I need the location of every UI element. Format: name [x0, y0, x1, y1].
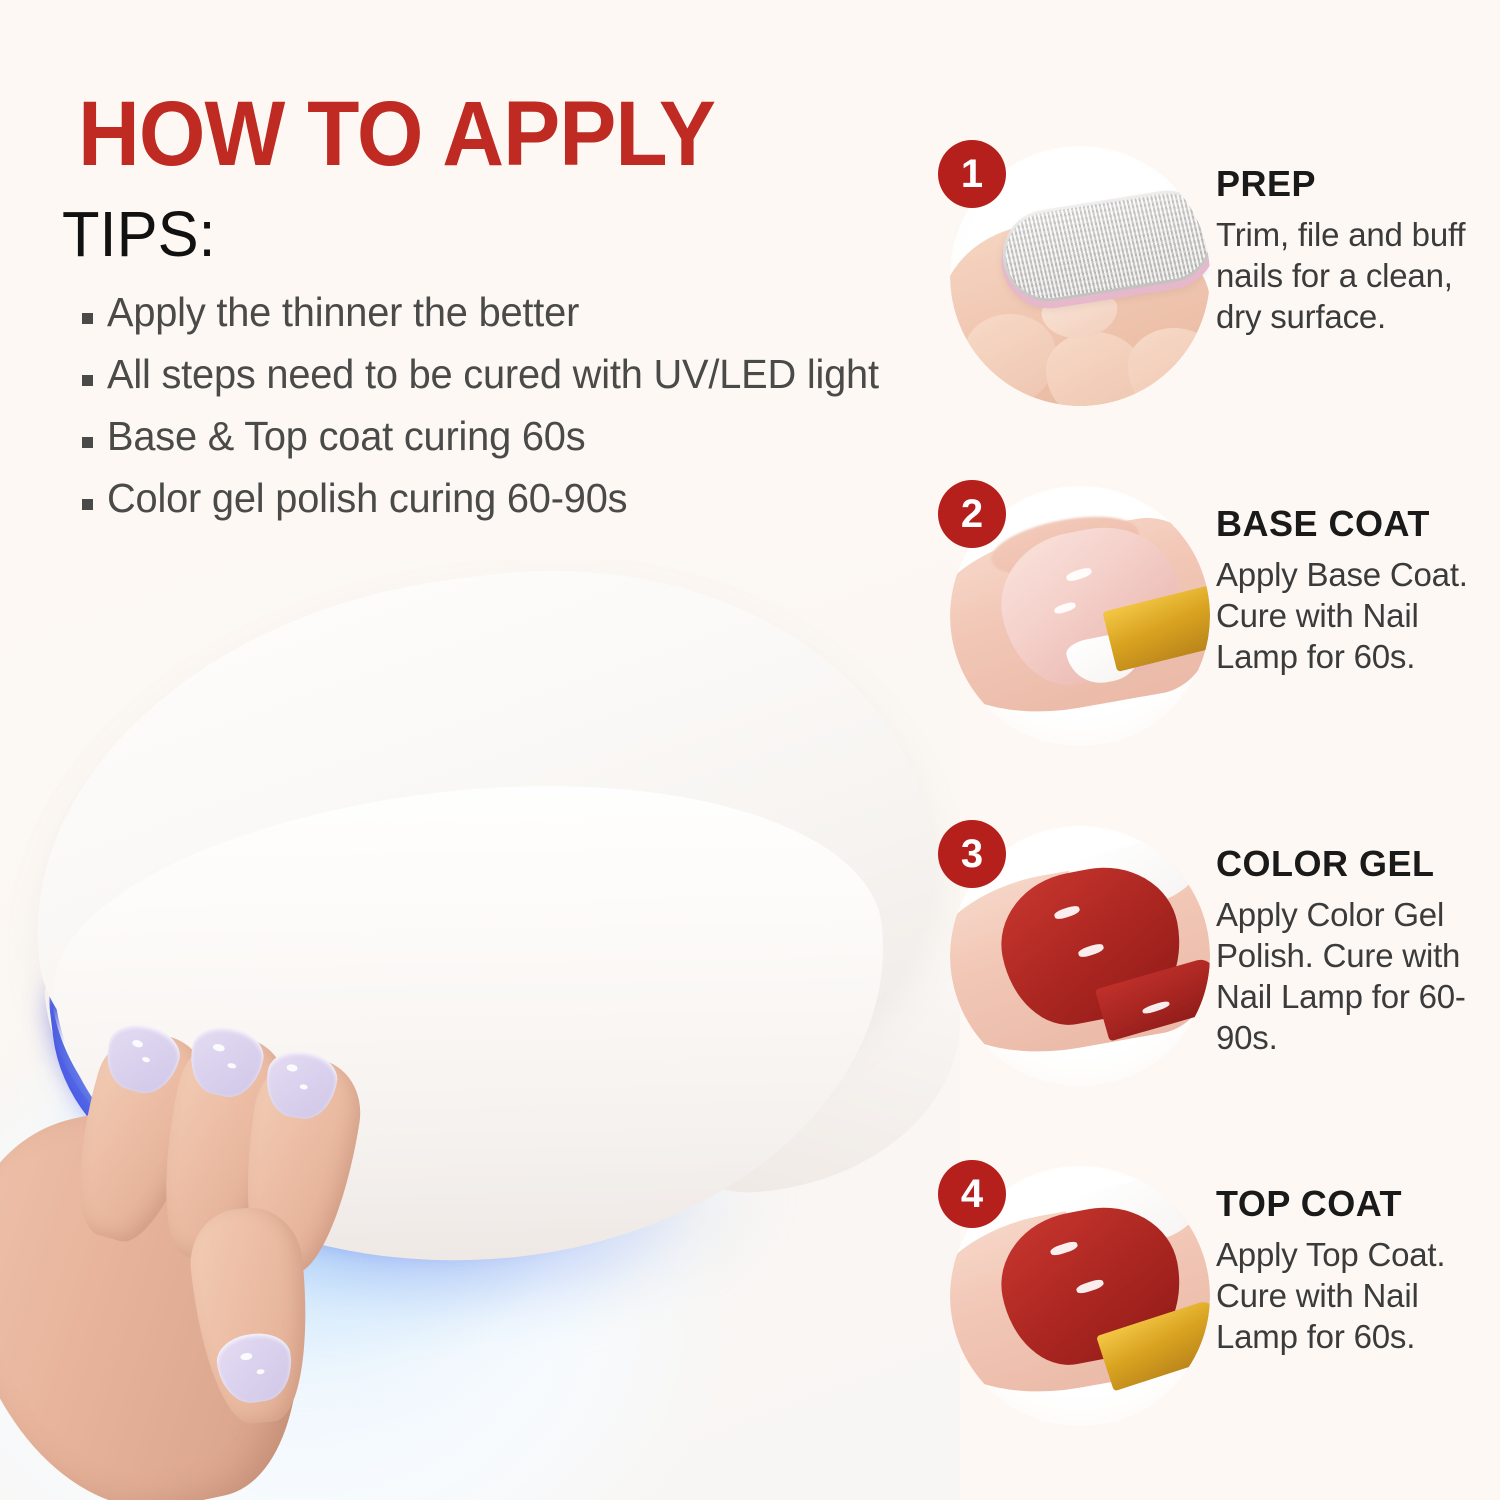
tips-heading: TIPS:	[62, 202, 216, 266]
hand-in-lamp	[0, 940, 490, 1500]
step-title: PREP	[1216, 164, 1496, 204]
list-item: Apply the thinner the better	[82, 292, 932, 354]
uv-lamp-photo	[0, 560, 960, 1500]
step-item-prep: 1 PREP Trim, file and buff nails for a c…	[930, 140, 1500, 440]
step-text-prep: PREP Trim, file and buff nails for a cle…	[1216, 164, 1496, 337]
step-number-badge: 1	[938, 140, 1006, 208]
tips-list: Apply the thinner the better All steps n…	[82, 292, 932, 540]
square-bullet-icon	[82, 499, 93, 510]
step-text-base-coat: BASE COAT Apply Base Coat. Cure with Nai…	[1216, 504, 1496, 677]
nail-sparkle-icon	[212, 1043, 225, 1052]
square-bullet-icon	[82, 437, 93, 448]
step-item-base-coat: 2 BASE COAT Apply Base Coat. Cure with N…	[930, 480, 1500, 780]
list-item: Base & Top coat curing 60s	[82, 416, 932, 478]
square-bullet-icon	[82, 375, 93, 386]
step-title: BASE COAT	[1216, 504, 1496, 544]
step-description: Trim, file and buff nails for a clean, d…	[1216, 214, 1496, 337]
step-item-color-gel: 3 COLOR GEL Apply Color Gel Polish. Cure…	[930, 820, 1500, 1120]
step-number-badge: 3	[938, 820, 1006, 888]
tip-text: All steps need to be cured with UV/LED l…	[107, 354, 879, 395]
nail-sparkle-icon	[286, 1064, 298, 1073]
step-description: Apply Color Gel Polish. Cure with Nail L…	[1216, 894, 1496, 1058]
step-text-top-coat: TOP COAT Apply Top Coat. Cure with Nail …	[1216, 1184, 1496, 1357]
step-description: Apply Base Coat. Cure with Nail Lamp for…	[1216, 554, 1496, 677]
nail-sparkle-icon	[227, 1062, 237, 1069]
nail-sparkle-icon	[256, 1369, 265, 1375]
list-item: All steps need to be cured with UV/LED l…	[82, 354, 932, 416]
step-description: Apply Top Coat. Cure with Nail Lamp for …	[1216, 1234, 1496, 1357]
nail-sparkle-icon	[240, 1352, 253, 1361]
step-number-badge: 2	[938, 480, 1006, 548]
step-item-top-coat: 4 TOP COAT Apply Top Coat. Cure with Nai…	[930, 1160, 1500, 1460]
page-title: HOW TO APPLY	[78, 88, 715, 180]
list-item: Color gel polish curing 60-90s	[82, 478, 932, 540]
tip-text: Base & Top coat curing 60s	[107, 416, 585, 457]
knuckle	[1128, 328, 1210, 406]
tip-text: Color gel polish curing 60-90s	[107, 478, 627, 519]
step-title: TOP COAT	[1216, 1184, 1496, 1224]
instructions-text-block: HOW TO APPLY TIPS: Apply the thinner the…	[0, 0, 930, 560]
steps-column: 1 PREP Trim, file and buff nails for a c…	[930, 0, 1500, 1500]
knuckle	[964, 314, 1056, 402]
tip-text: Apply the thinner the better	[107, 292, 579, 333]
step-text-color-gel: COLOR GEL Apply Color Gel Polish. Cure w…	[1216, 844, 1496, 1058]
square-bullet-icon	[82, 313, 93, 324]
step-title: COLOR GEL	[1216, 844, 1496, 884]
nail-sparkle-icon	[141, 1056, 150, 1063]
nail-sparkle-icon	[131, 1039, 144, 1049]
step-number-badge: 4	[938, 1160, 1006, 1228]
nail-sparkle-icon	[299, 1084, 308, 1090]
infographic-page: HOW TO APPLY TIPS: Apply the thinner the…	[0, 0, 1500, 1500]
